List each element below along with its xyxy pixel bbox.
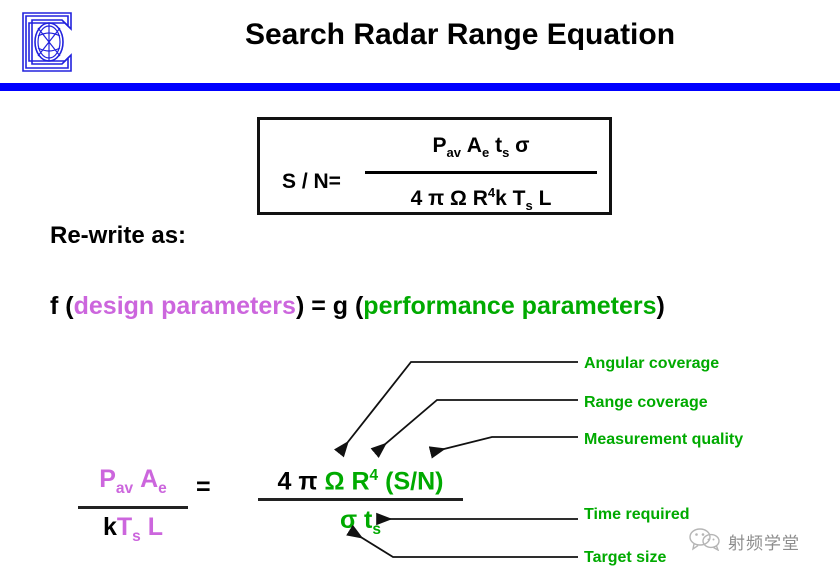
watermark-text: 射频学堂 [728,529,800,554]
performance-parameters-fraction: 4 π Ω R4 (S/N) σ ts [258,459,463,547]
design-fraction-bar [78,506,188,509]
design-den-l: L [148,513,163,541]
radar-range-equation-box: S / N= Pav Ae ts σ 4 π Ω R4k Ts L [257,117,612,215]
design-denominator: kTs L [78,511,188,553]
design-den-t-sub: s [132,528,141,545]
design-num-a-sub: e [158,480,167,497]
fg-close: ) [657,292,665,320]
page-title: Search Radar Range Equation [120,18,800,52]
equation-left-hand-side: S / N= [282,170,341,194]
equation-fraction: Pav Ae ts σ 4 π Ω R4k Ts L [365,130,597,222]
numerator-sigma: σ [515,134,529,157]
perf-num-r-sup: 4 [370,467,379,484]
numerator-p: P [432,134,446,157]
numerator-a-sub: e [482,145,489,160]
perf-den-t-sub: s [372,521,381,538]
performance-denominator: σ ts [258,503,463,547]
denominator-k: k [495,187,507,210]
watermark: 射频学堂 [688,527,800,556]
numerator-p-sub: av [446,145,460,160]
design-num-p: P [99,465,116,493]
equals-sign: = [196,473,211,502]
wechat-icon [688,527,722,556]
perf-den-sigma: σ [340,506,357,534]
equation-numerator: Pav Ae ts σ [365,130,597,169]
perf-num-pi: π [298,467,317,495]
denominator-omega: Ω [450,187,467,210]
function-mapping-line: f (design parameters) = g (performance p… [50,292,665,321]
design-num-a: A [140,465,158,493]
denominator-pi: π [428,187,444,210]
design-parameters-fraction: Pav Ae kTs L [78,463,188,553]
leader-angular-coverage [340,362,578,452]
callout-range-coverage: Range coverage [584,394,708,412]
perf-num-four: 4 [278,467,292,495]
callout-time-required: Time required [584,506,690,524]
design-den-t: T [117,513,132,541]
fg-f: f ( [50,292,74,320]
denominator-l: L [539,187,552,210]
callout-measurement-quality: Measurement quality [584,431,743,449]
institution-logo-icon [16,10,78,74]
denominator-four: 4 [411,187,423,210]
performance-numerator: 4 π Ω R4 (S/N) [258,459,463,498]
design-den-k: k [103,513,117,541]
perf-num-r: R [351,467,369,495]
denominator-t: T [513,187,526,210]
fraction-bar [365,171,597,174]
design-num-p-sub: av [116,480,133,497]
leader-range-coverage [376,400,578,452]
header-divider [0,83,840,91]
callout-target-size: Target size [584,549,666,567]
numerator-a: A [467,134,482,157]
fg-performance-parameters: performance parameters [363,292,656,320]
numerator-t: t [495,134,502,157]
rewrite-label: Re-write as: [50,222,186,250]
fg-design-parameters: design parameters [74,292,296,320]
fg-mid: ) = g ( [296,292,363,320]
perf-num-signal-to-noise: (S/N) [385,467,443,495]
perf-num-omega: Ω [324,467,344,495]
denominator-r: R [473,187,488,210]
slide-header: Search Radar Range Equation [0,0,840,92]
callout-angular-coverage: Angular coverage [584,355,719,373]
equation-denominator: 4 π Ω R4k Ts L [365,177,597,222]
numerator-t-sub: s [502,145,509,160]
denominator-t-sub: s [526,198,533,213]
design-numerator: Pav Ae [78,463,188,505]
performance-fraction-bar [258,498,463,501]
rearranged-equation: Pav Ae kTs L = 4 π Ω R4 (S/N) σ ts [0,455,520,565]
leader-measurement-quality [432,437,578,452]
